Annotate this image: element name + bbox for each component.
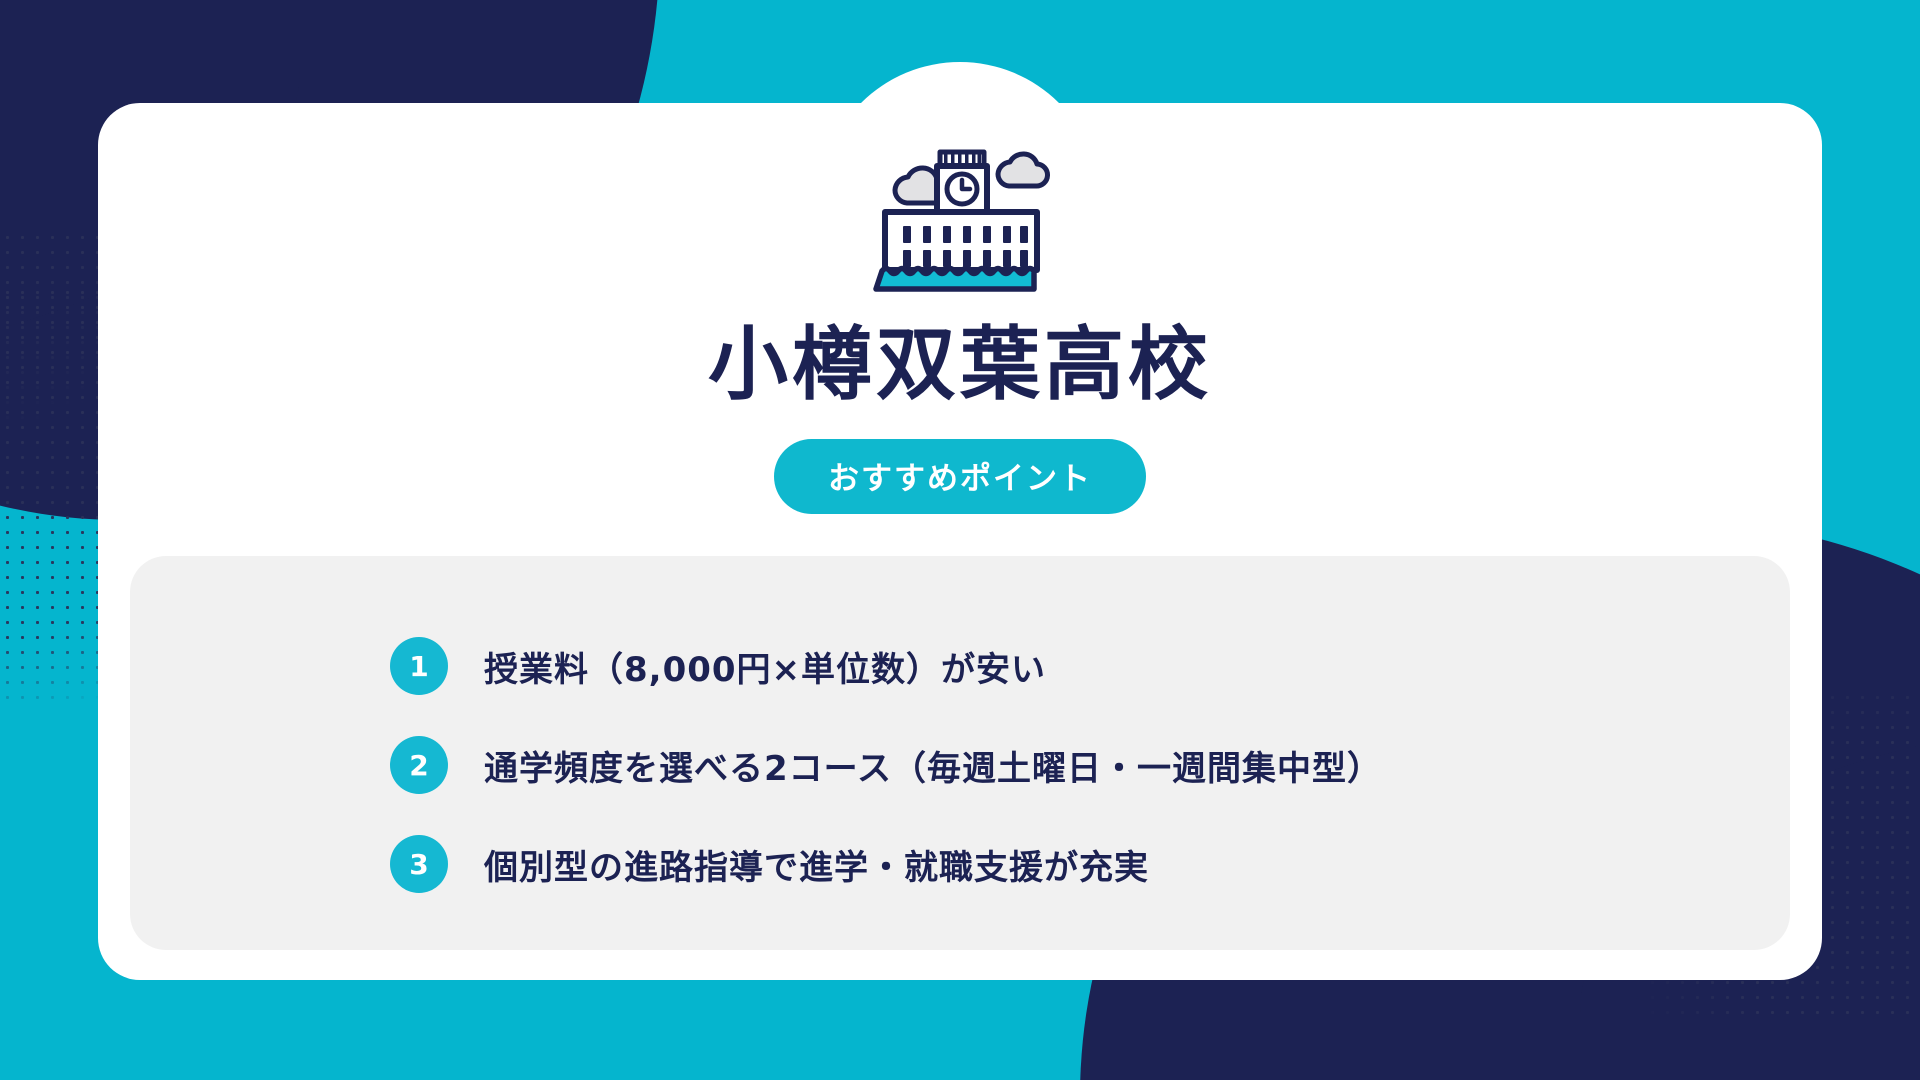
- school-building-icon: [865, 138, 1055, 303]
- list-item: 1 授業料（8,000円×単位数）が安い: [390, 630, 1790, 702]
- status-badge: おすすめポイント: [774, 439, 1146, 514]
- card-content: 小樽双葉高校 おすすめポイント 1 授業料（8,000円×単位数）が安い 2 通…: [98, 103, 1822, 980]
- page-title: 小樽双葉高校: [708, 325, 1212, 405]
- point-text: 授業料（8,000円×単位数）が安い: [484, 642, 1046, 691]
- point-number-badge: 1: [390, 637, 448, 695]
- point-number-badge: 2: [390, 736, 448, 794]
- recommended-points-panel: 1 授業料（8,000円×単位数）が安い 2 通学頻度を選べる2コース（毎週土曜…: [130, 556, 1790, 950]
- point-number-badge: 3: [390, 835, 448, 893]
- list-item: 3 個別型の進路指導で進学・就職支援が充実: [390, 828, 1790, 900]
- point-text: 通学頻度を選べる2コース（毎週土曜日・一週間集中型）: [484, 741, 1382, 790]
- point-text: 個別型の進路指導で進学・就職支援が充実: [484, 840, 1149, 889]
- list-item: 2 通学頻度を選べる2コース（毎週土曜日・一週間集中型）: [390, 729, 1790, 801]
